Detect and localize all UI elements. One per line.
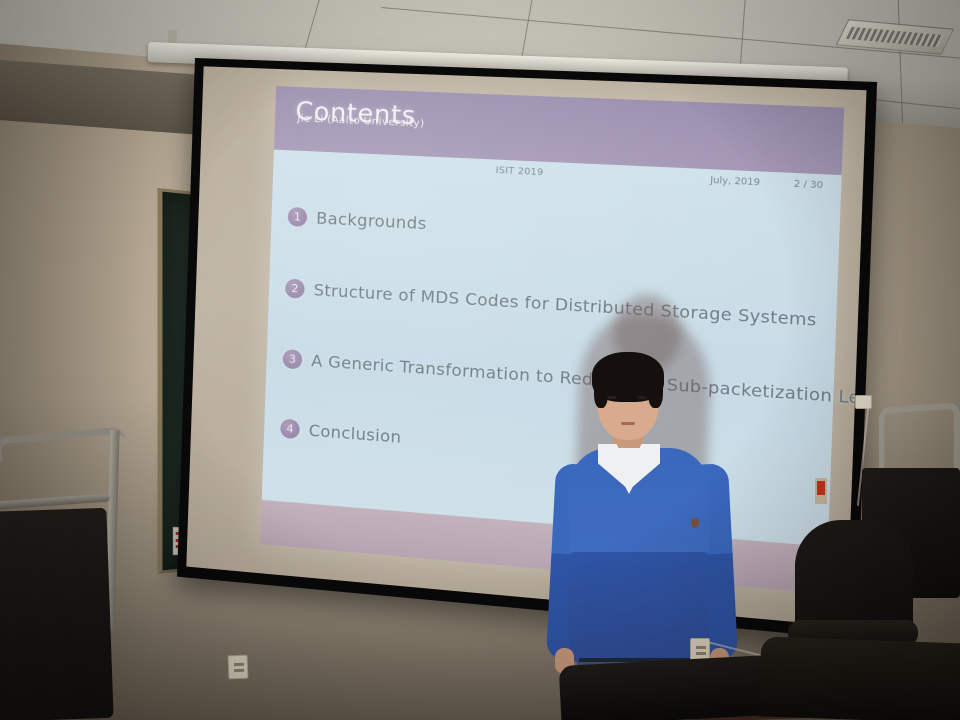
slide-footer-page: 2 / 30	[794, 179, 824, 191]
lecture-room-photo: Contents 1 Backgrounds 2 Structure of MD…	[0, 0, 960, 720]
presenter-hair	[592, 352, 664, 402]
presenter-right-eye	[637, 396, 646, 399]
light-switch[interactable]	[855, 395, 872, 409]
toc-number-badge-2: 2	[285, 278, 305, 298]
presenter-left-eye	[607, 396, 616, 399]
chair-left-back	[0, 508, 114, 720]
toc-item-4: 4 Conclusion	[280, 419, 402, 447]
toc-label-2: Structure of MDS Codes for Distributed S…	[313, 280, 817, 330]
toc-item-2: 2 Structure of MDS Codes for Distributed…	[285, 278, 817, 330]
toc-number-badge-3: 3	[282, 349, 302, 369]
screen-surface: Contents 1 Backgrounds 2 Structure of MD…	[186, 66, 866, 626]
fire-alarm-sign	[815, 478, 827, 504]
toc-label-4: Conclusion	[308, 421, 401, 447]
presenter-mouth	[621, 422, 635, 425]
chair-foreground-left	[559, 654, 792, 720]
toc-label-1: Backgrounds	[316, 208, 427, 233]
wall-socket-left[interactable]	[228, 655, 249, 680]
slide-footer-date: July, 2019	[710, 176, 760, 189]
chair-foreground-right	[759, 636, 960, 720]
toc-number-badge-1: 1	[287, 207, 307, 227]
projection-screen: Contents 1 Backgrounds 2 Structure of MD…	[177, 58, 877, 639]
toc-number-badge-4: 4	[280, 419, 300, 440]
sweater-logo	[691, 518, 699, 528]
presenter-sweater-lower	[569, 552, 709, 664]
slide-footer-venue: ISIT 2019	[495, 166, 543, 179]
toc-item-1: 1 Backgrounds	[287, 207, 426, 234]
